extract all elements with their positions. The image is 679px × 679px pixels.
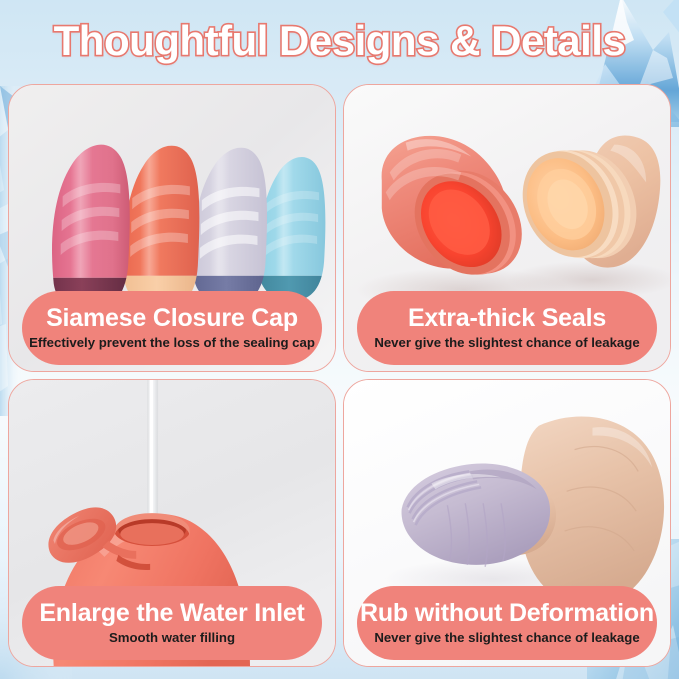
caption-enlarge-the-water-inlet: Enlarge the Water Inlet Smooth water fil…	[22, 586, 322, 660]
caption-subtitle: Never give the slightest chance of leaka…	[374, 630, 639, 646]
page-title: Thoughtful Designs & Details	[0, 8, 679, 74]
caption-title: Rub without Deformation	[360, 600, 654, 626]
feature-panel-grid: Siamese Closure Cap Effectively prevent …	[8, 84, 671, 672]
page-title-text: Thoughtful Designs & Details	[54, 17, 626, 65]
panel-enlarge-the-water-inlet[interactable]: Enlarge the Water Inlet Smooth water fil…	[8, 379, 336, 667]
caption-subtitle: Never give the slightest chance of leaka…	[374, 335, 639, 351]
caption-subtitle: Smooth water filling	[109, 630, 235, 646]
caption-title: Enlarge the Water Inlet	[39, 600, 304, 626]
caption-rub-without-deformation: Rub without Deformation Never give the s…	[357, 586, 657, 660]
water-stream	[147, 380, 158, 521]
caption-extra-thick-seals: Extra-thick Seals Never give the slighte…	[357, 291, 657, 365]
panel-siamese-closure-cap[interactable]: Siamese Closure Cap Effectively prevent …	[8, 84, 336, 372]
infographic-page: Thoughtful Designs & Details	[0, 0, 679, 679]
caption-title: Extra-thick Seals	[408, 305, 606, 331]
panel-rub-without-deformation[interactable]: Rub without Deformation Never give the s…	[343, 379, 671, 667]
caption-title: Siamese Closure Cap	[46, 305, 298, 331]
panel-extra-thick-seals[interactable]: Extra-thick Seals Never give the slighte…	[343, 84, 671, 372]
caption-subtitle: Effectively prevent the loss of the seal…	[29, 335, 315, 351]
caption-siamese-closure-cap: Siamese Closure Cap Effectively prevent …	[22, 291, 322, 365]
